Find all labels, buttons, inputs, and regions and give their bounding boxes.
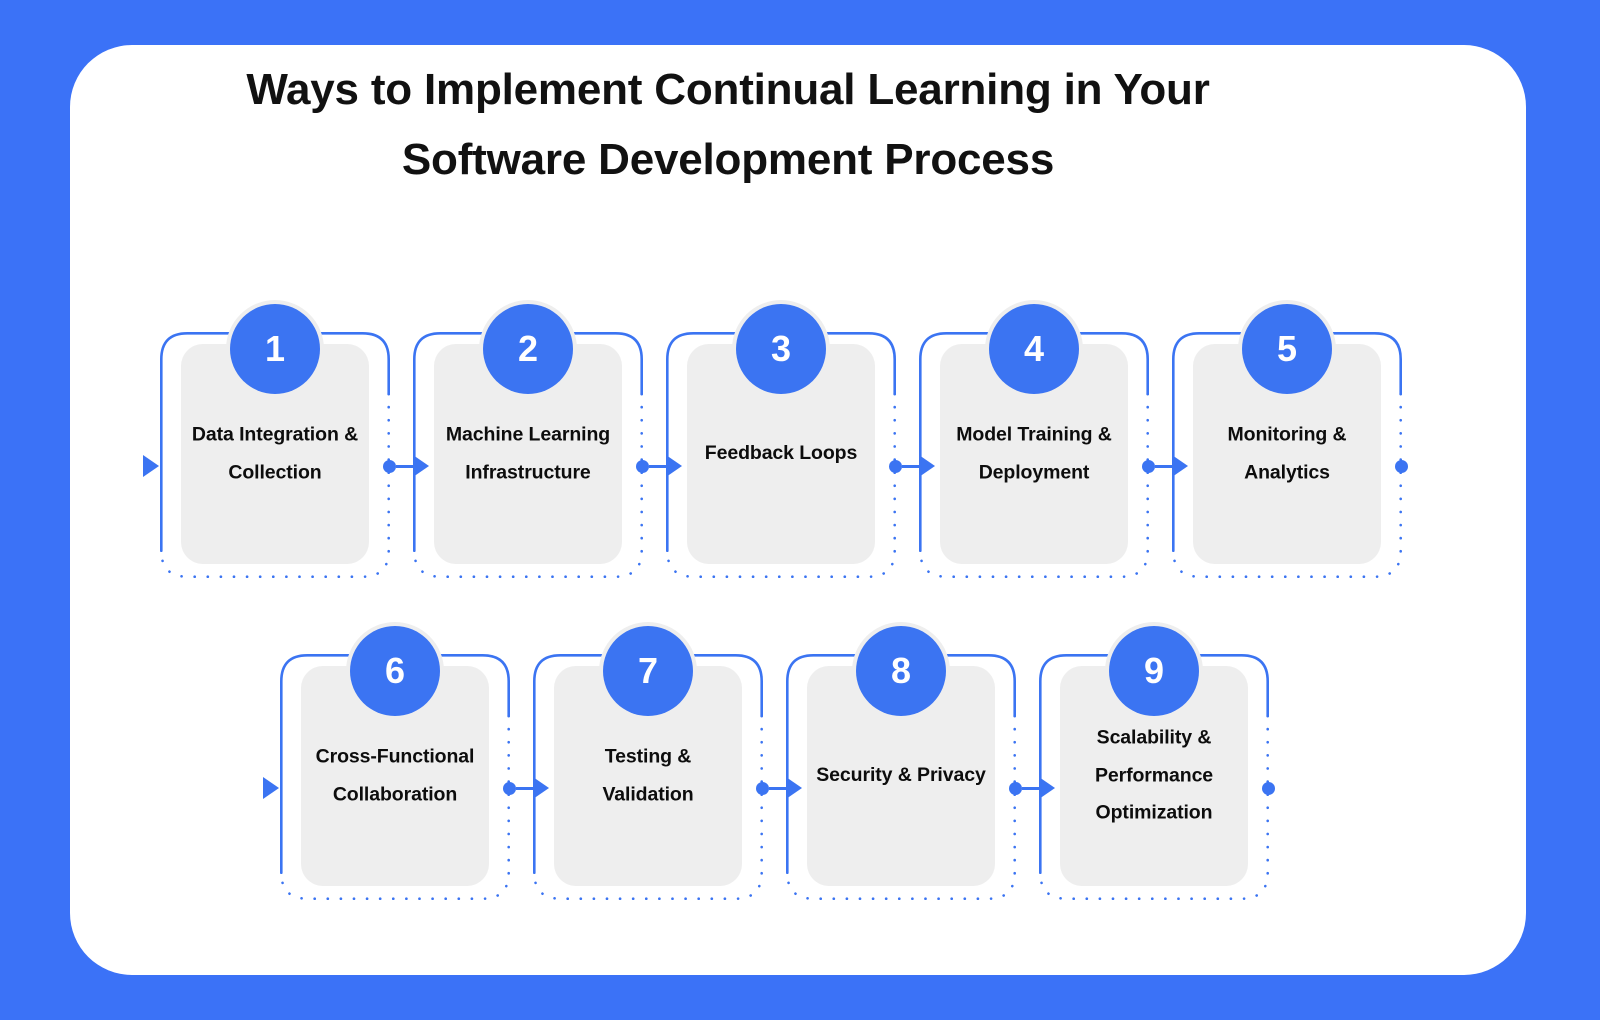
step-label: Model Training & Deployment	[948, 416, 1120, 491]
step-label: Security & Privacy	[815, 757, 987, 795]
step-card-7[interactable]: Testing & Validation7	[533, 622, 763, 900]
flow-line	[769, 787, 786, 790]
flow-connector	[1395, 455, 1408, 477]
step-label: Testing & Validation	[562, 738, 734, 813]
step-number-badge-1: 1	[230, 304, 320, 394]
step-card-6[interactable]: Cross-Functional Collaboration6	[280, 622, 510, 900]
flow-dot-icon	[1142, 460, 1155, 473]
step-card-9[interactable]: Scalability & Performance Optimization9	[1039, 622, 1269, 900]
flow-dot-icon	[756, 782, 769, 795]
step-card-8[interactable]: Security & Privacy8	[786, 622, 1016, 900]
page-title-line-2: Software Development Process	[150, 125, 1306, 195]
flow-line	[1022, 787, 1039, 790]
flow-line	[649, 465, 666, 468]
flow-dot-icon	[1395, 460, 1408, 473]
step-number-badge-5: 5	[1242, 304, 1332, 394]
flow-dot-icon	[503, 782, 516, 795]
step-label: Data Integration & Collection	[189, 416, 361, 491]
flow-line	[396, 465, 413, 468]
flow-dot-icon	[636, 460, 649, 473]
step-card-5[interactable]: Monitoring & Analytics5	[1172, 300, 1402, 578]
infographic-canvas: Ways to Implement Continual Learning in …	[0, 0, 1600, 1020]
flow-line	[516, 787, 533, 790]
page-title-line-1: Ways to Implement Continual Learning in …	[150, 55, 1306, 125]
step-label: Cross-Functional Collaboration	[309, 738, 481, 813]
flow-dot-icon	[1009, 782, 1022, 795]
flow-dot-icon	[383, 460, 396, 473]
flow-arrow-head-icon	[263, 777, 279, 799]
step-number-badge-9: 9	[1109, 626, 1199, 716]
step-number-badge-7: 7	[603, 626, 693, 716]
step-number-badge-6: 6	[350, 626, 440, 716]
step-number-badge-8: 8	[856, 626, 946, 716]
flow-dot-icon	[1262, 782, 1275, 795]
step-number-badge-4: 4	[989, 304, 1079, 394]
page-title: Ways to Implement Continual Learning in …	[150, 55, 1306, 196]
flow-connector	[1262, 777, 1275, 799]
step-card-4[interactable]: Model Training & Deployment4	[919, 300, 1149, 578]
flow-line	[902, 465, 919, 468]
step-label: Feedback Loops	[695, 435, 867, 473]
step-card-1[interactable]: Data Integration & Collection1	[160, 300, 390, 578]
flow-arrow-head-icon	[143, 455, 159, 477]
step-card-2[interactable]: Machine Learning Infrastructure2	[413, 300, 643, 578]
step-label: Scalability & Performance Optimization	[1068, 720, 1240, 833]
step-label: Machine Learning Infrastructure	[442, 416, 614, 491]
step-number-badge-3: 3	[736, 304, 826, 394]
flow-line	[1155, 465, 1172, 468]
step-number-badge-2: 2	[483, 304, 573, 394]
step-card-3[interactable]: Feedback Loops3	[666, 300, 896, 578]
step-label: Monitoring & Analytics	[1201, 416, 1373, 491]
flow-dot-icon	[889, 460, 902, 473]
